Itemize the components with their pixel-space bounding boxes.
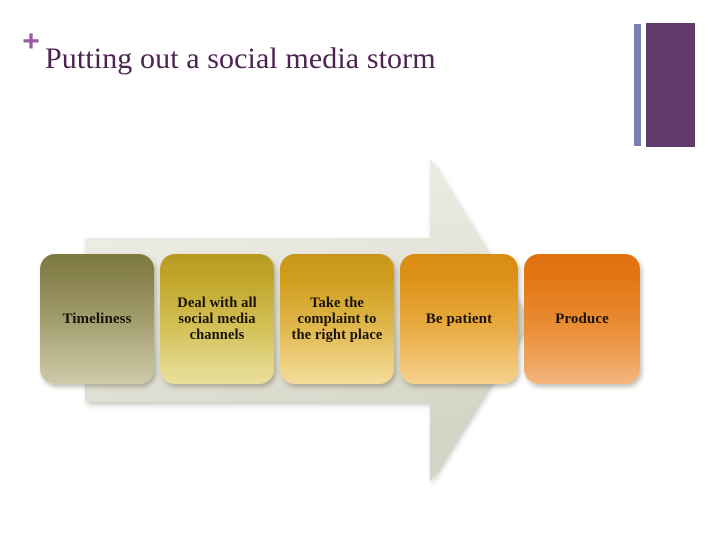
process-steps-row: Timeliness Deal with all social media ch… — [40, 254, 640, 384]
accent-block — [646, 23, 695, 147]
process-step-5-label: Produce — [555, 311, 609, 328]
process-step-3-label: Take the complaint to the right place — [286, 295, 388, 344]
process-step-4[interactable]: Be patient — [400, 254, 518, 384]
slide-canvas: + Putting out a social media storm Timel… — [0, 0, 720, 540]
process-step-1-label: Timeliness — [62, 311, 131, 328]
process-step-4-label: Be patient — [426, 311, 492, 328]
thin-accent-bar — [634, 24, 641, 146]
page-title: Putting out a social media storm — [45, 42, 605, 76]
process-step-3[interactable]: Take the complaint to the right place — [280, 254, 394, 384]
process-step-1[interactable]: Timeliness — [40, 254, 154, 384]
process-step-5[interactable]: Produce — [524, 254, 640, 384]
process-step-2-label: Deal with all social media channels — [166, 295, 268, 344]
plus-icon: + — [19, 30, 43, 54]
process-step-2[interactable]: Deal with all social media channels — [160, 254, 274, 384]
